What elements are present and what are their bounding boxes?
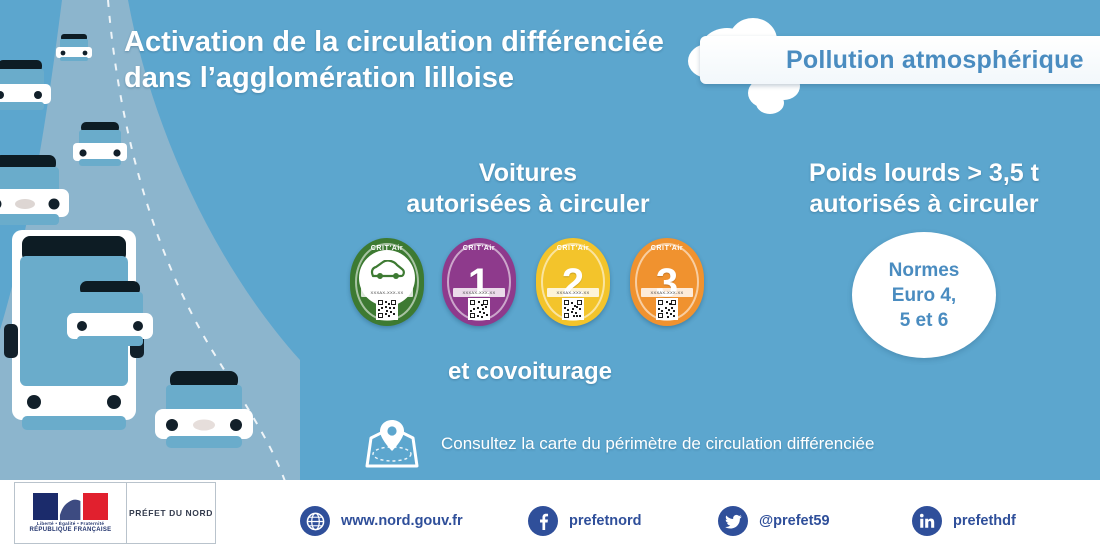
map-link-row[interactable]: Consultez la carte du périmètre de circu… (365, 418, 874, 470)
euro-line3: 5 et 6 (900, 310, 949, 331)
republic-logo-box: Liberté • Égalité • Fraternité RÉPUBLIQU… (14, 482, 216, 544)
prefecture-panel: PRÉFET DU NORD (127, 483, 215, 543)
page-title: Activation de la circulation différencié… (124, 24, 724, 96)
qr-code-icon (562, 298, 584, 320)
badge-plate: XXXAX-XXX-XX (641, 288, 693, 297)
badge-plate: XXXAX-XXX-XX (361, 288, 413, 297)
euro-line2: Euro 4, (892, 285, 956, 306)
page-title-line2: dans l’agglomération lilloise (124, 60, 724, 96)
electric-car-icon (370, 260, 406, 280)
vehicle-car-mid (70, 120, 130, 176)
qr-code-icon (376, 298, 398, 320)
cars-heading-line1: Voitures (378, 158, 678, 189)
euro-line1: Normes (889, 260, 960, 281)
footer-link-twitter[interactable]: @prefet59 (718, 506, 830, 536)
qr-code-icon (656, 298, 678, 320)
map-pin-icon[interactable] (365, 418, 419, 470)
badge-critair-label: CRIT'Air (442, 245, 516, 252)
footer-link-linkedin-label[interactable]: prefethdf (953, 513, 1016, 529)
trucks-heading: Poids lourds > 3,5 t autorisés à circule… (774, 158, 1074, 220)
footer-link-facebook[interactable]: prefetnord (528, 506, 642, 536)
globe-icon[interactable] (300, 506, 330, 536)
vehicle-car-left-upper (0, 58, 54, 118)
critair-badge-green[interactable]: CRIT'Air XXXAX-XXX-XX (350, 238, 424, 326)
trucks-heading-line1: Poids lourds > 3,5 t (774, 158, 1074, 189)
critair-badge-3[interactable]: CRIT'Air 3 XXXAX-XXX-XX (630, 238, 704, 326)
page-title-lead: Activation de la (124, 26, 346, 58)
vehicle-car-far (54, 33, 94, 65)
critair-badge-2[interactable]: CRIT'Air 2 XXXAX-XXX-XX (536, 238, 610, 326)
badge-plate: XXXAX-XXX-XX (453, 288, 505, 297)
infographic-canvas: Pollution atmosphérique Activation de la… (0, 0, 1100, 550)
carpool-note: et covoiturage (380, 358, 680, 386)
footer-link-website[interactable]: www.nord.gouv.fr (300, 506, 463, 536)
footer-link-website-label[interactable]: www.nord.gouv.fr (341, 513, 463, 529)
euro-norms-text: NormesEuro 4,5 et 6 (889, 258, 960, 333)
pollution-banner-label: Pollution atmosphérique (786, 46, 1084, 75)
footer-link-facebook-label[interactable]: prefetnord (569, 513, 642, 529)
trucks-heading-line2: autorisés à circuler (774, 189, 1074, 220)
qr-code-icon (468, 298, 490, 320)
prefecture-label: PRÉFET DU NORD (129, 508, 213, 518)
marianne-flag-icon (33, 493, 109, 520)
vehicle-car-center (64, 278, 156, 358)
footer-link-twitter-label[interactable]: @prefet59 (759, 513, 830, 529)
pollution-banner: Pollution atmosphérique (700, 36, 1100, 84)
map-link-label[interactable]: Consultez la carte du périmètre de circu… (441, 434, 874, 454)
page-title-line1: Activation de la circulation différencié… (124, 24, 724, 60)
republic-logo: Liberté • Égalité • Fraternité RÉPUBLIQU… (15, 483, 127, 543)
critair-badge-1[interactable]: CRIT'Air 1 XXXAX-XXX-XX (442, 238, 516, 326)
republic-motto: Liberté • Égalité • Fraternité (37, 521, 104, 526)
cloud-icon (756, 92, 784, 114)
twitter-icon[interactable] (718, 506, 748, 536)
badge-critair-label: CRIT'Air (536, 245, 610, 252)
euro-norms-circle: NormesEuro 4,5 et 6 (852, 232, 996, 358)
footer-link-linkedin[interactable]: prefethdf (912, 506, 1016, 536)
cars-heading-line2: autorisées à circuler (378, 189, 678, 220)
vehicle-car-front-right (152, 368, 256, 462)
critair-badge-group: CRIT'Air XXXAX-XXX-XX (348, 238, 728, 330)
page-title-strong: circulation différenciée (346, 26, 664, 58)
republic-name: RÉPUBLIQUE FRANÇAISE (29, 527, 111, 533)
badge-plate: XXXAX-XXX-XX (547, 288, 599, 297)
footer-bar: Liberté • Égalité • Fraternité RÉPUBLIQU… (0, 480, 1100, 550)
linkedin-icon[interactable] (912, 506, 942, 536)
badge-critair-label: CRIT'Air (630, 245, 704, 252)
cars-heading: Voitures autorisées à circuler (378, 158, 678, 220)
facebook-icon[interactable] (528, 506, 558, 536)
